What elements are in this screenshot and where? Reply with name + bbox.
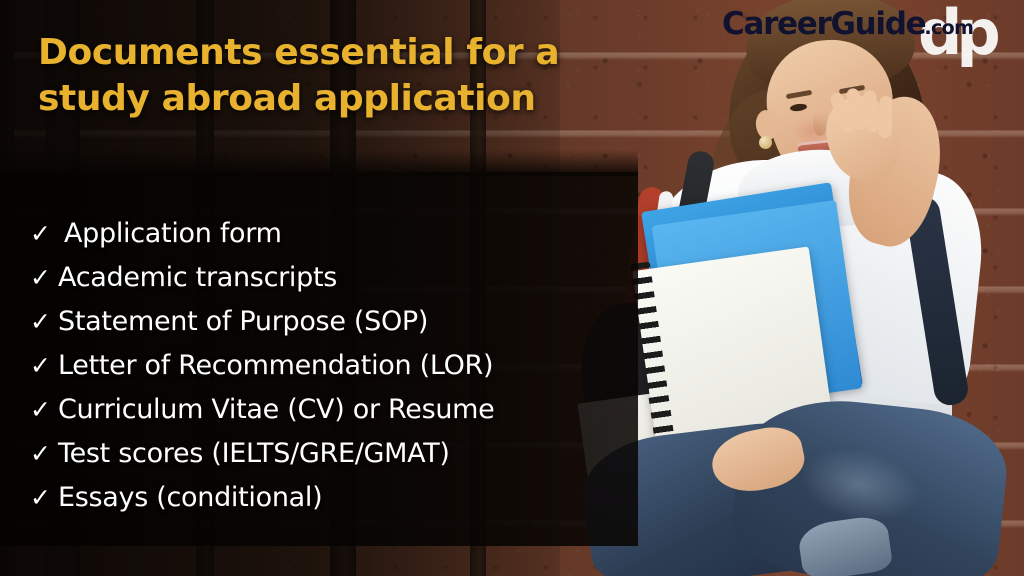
check-icon: ✓ <box>30 219 54 248</box>
poster-root: Documents essential for a study abroad a… <box>0 0 1024 576</box>
careerguide-logo[interactable]: dp CareerGuide .com <box>722 6 973 54</box>
logo-brand-text: CareerGuide <box>722 6 925 42</box>
finger-4 <box>878 96 892 138</box>
title-line-1: Documents essential for a <box>38 30 638 76</box>
check-icon: ✓ <box>30 395 54 424</box>
check-icon: ✓ <box>30 483 54 512</box>
check-icon: ✓ <box>30 439 54 468</box>
check-icon: ✓ <box>30 351 54 380</box>
logo-tld-text: .com <box>924 17 973 39</box>
list-item-label: Curriculum Vitae (CV) or Resume <box>54 394 494 425</box>
nose <box>813 112 827 136</box>
title-line-2: study abroad application <box>38 76 638 122</box>
list-item: ✓ Academic transcripts <box>30 262 630 306</box>
list-item-label: Statement of Purpose (SOP) <box>54 306 428 337</box>
check-icon: ✓ <box>30 307 54 336</box>
page-title: Documents essential for a study abroad a… <box>38 30 638 122</box>
document-checklist: ✓ Application form ✓ Academic transcript… <box>30 218 630 526</box>
check-icon: ✓ <box>30 263 54 292</box>
earring <box>759 136 772 149</box>
list-item: ✓ Curriculum Vitae (CV) or Resume <box>30 394 630 438</box>
list-item-label: Test scores (IELTS/GRE/GMAT) <box>54 438 450 469</box>
list-item: ✓ Test scores (IELTS/GRE/GMAT) <box>30 438 630 482</box>
list-item: ✓ Essays (conditional) <box>30 482 630 526</box>
list-item: ✓ Statement of Purpose (SOP) <box>30 306 630 350</box>
list-item: ✓ Application form <box>30 218 630 262</box>
list-item-label: Application form <box>54 218 282 249</box>
list-item-label: Letter of Recommendation (LOR) <box>54 350 493 381</box>
list-item: ✓ Letter of Recommendation (LOR) <box>30 350 630 394</box>
list-item-label: Academic transcripts <box>54 262 337 293</box>
list-item-label: Essays (conditional) <box>54 482 322 513</box>
